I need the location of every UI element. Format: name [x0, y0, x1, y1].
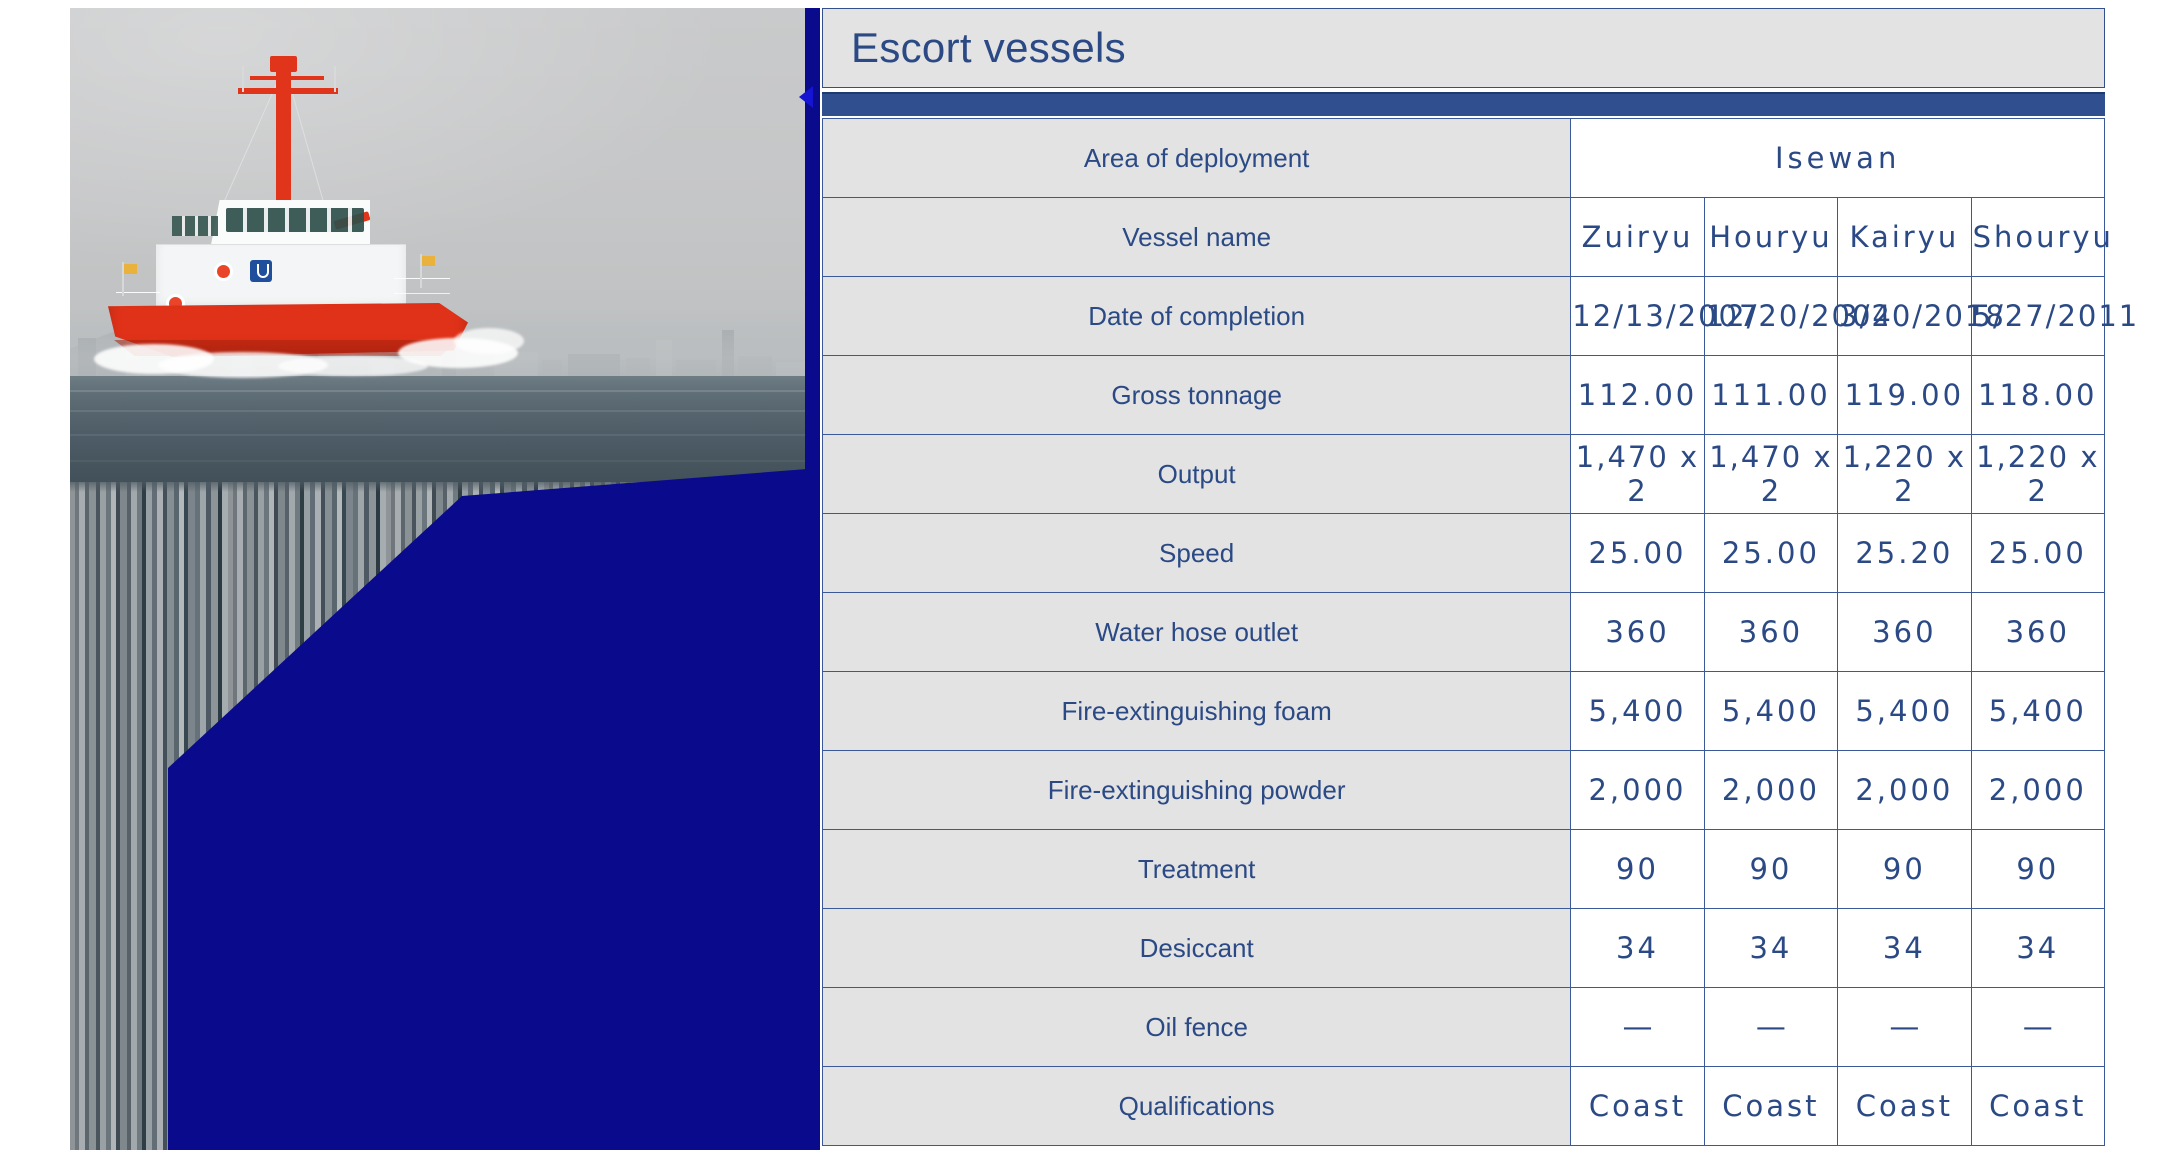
cell-foam-1: 5,400	[1571, 672, 1704, 751]
cell-tonnage-2: 111.00	[1704, 356, 1837, 435]
cell-powder-1: 2,000	[1571, 751, 1704, 830]
table-row: Qualifications Coast Coast Coast Coast	[823, 1067, 2105, 1146]
table-row: Vessel name Zuiryu Houryu Kairyu Shouryu	[823, 198, 2105, 277]
cell-qualifications-3: Coast	[1838, 1067, 1971, 1146]
company-logo	[250, 260, 272, 282]
page-title: Escort vessels	[851, 24, 1126, 72]
row-label-area-of-deployment: Area of deployment	[823, 119, 1571, 198]
row-label-output: Output	[823, 435, 1571, 514]
blue-vertical-strip	[805, 8, 820, 1150]
table-row: Fire-extinguishing foam 5,400 5,400 5,40…	[823, 672, 2105, 751]
cell-date-1: 12/13/2007	[1571, 277, 1704, 356]
table-row: Treatment 90 90 90 90	[823, 830, 2105, 909]
table-row: Date of completion 12/13/2007 12/20/2004…	[823, 277, 2105, 356]
cell-desiccant-4: 34	[1971, 909, 2104, 988]
cell-treatment-2: 90	[1704, 830, 1837, 909]
spec-table-panel: Escort vessels Area of deployment Isewan…	[822, 8, 2105, 1150]
cell-qualifications-4: Coast	[1971, 1067, 2104, 1146]
escort-vessel	[98, 48, 518, 378]
cell-desiccant-2: 34	[1704, 909, 1837, 988]
row-label-gross-tonnage: Gross tonnage	[823, 356, 1571, 435]
cell-date-3: 3/20/2018	[1838, 277, 1971, 356]
cell-foam-4: 5,400	[1971, 672, 2104, 751]
row-label-oil-fence: Oil fence	[823, 988, 1571, 1067]
cell-vessel-name-2: Houryu	[1704, 198, 1837, 277]
title-bar: Escort vessels	[822, 8, 2105, 88]
table-row: Oil fence — — — —	[823, 988, 2105, 1067]
deckhouse	[156, 244, 406, 311]
cell-vessel-name-3: Kairyu	[1838, 198, 1971, 277]
bridge-windows	[226, 208, 364, 232]
cell-treatment-1: 90	[1571, 830, 1704, 909]
cell-output-1: 1,470 x 2	[1571, 435, 1704, 514]
row-label-date-of-completion: Date of completion	[823, 277, 1571, 356]
row-label-qualifications: Qualifications	[823, 1067, 1571, 1146]
cell-output-4: 1,220 x 2	[1971, 435, 2104, 514]
row-label-water-hose-outlet: Water hose outlet	[823, 593, 1571, 672]
cell-output-2: 1,470 x 2	[1704, 435, 1837, 514]
cell-oil-fence-1: —	[1571, 988, 1704, 1067]
cell-date-4: 5/27/2011	[1971, 277, 2104, 356]
cell-foam-3: 5,400	[1838, 672, 1971, 751]
table-row: Desiccant 34 34 34 34	[823, 909, 2105, 988]
spec-table-body: Area of deployment Isewan Vessel name Zu…	[823, 119, 2105, 1146]
cell-powder-2: 2,000	[1704, 751, 1837, 830]
cell-vessel-name-1: Zuiryu	[1571, 198, 1704, 277]
cell-hose-3: 360	[1838, 593, 1971, 672]
cell-oil-fence-4: —	[1971, 988, 2104, 1067]
cell-treatment-3: 90	[1838, 830, 1971, 909]
table-row: Output 1,470 x 2 1,470 x 2 1,220 x 2 1,2…	[823, 435, 2105, 514]
table-row: Fire-extinguishing powder 2,000 2,000 2,…	[823, 751, 2105, 830]
slide-root: Escort vessels Area of deployment Isewan…	[0, 0, 2175, 1150]
cell-desiccant-3: 34	[1838, 909, 1971, 988]
cell-hose-4: 360	[1971, 593, 2104, 672]
row-label-desiccant: Desiccant	[823, 909, 1571, 988]
cell-speed-3: 25.20	[1838, 514, 1971, 593]
cell-oil-fence-2: —	[1704, 988, 1837, 1067]
cell-hose-1: 360	[1571, 593, 1704, 672]
cell-oil-fence-3: —	[1838, 988, 1971, 1067]
cell-desiccant-1: 34	[1571, 909, 1704, 988]
cell-tonnage-1: 112.00	[1571, 356, 1704, 435]
cell-powder-4: 2,000	[1971, 751, 2104, 830]
escort-vessel-spec-table: Area of deployment Isewan Vessel name Zu…	[822, 118, 2105, 1146]
row-label-fire-extinguishing-foam: Fire-extinguishing foam	[823, 672, 1571, 751]
title-underline-rule	[822, 92, 2105, 116]
cell-vessel-name-4: Shouryu	[1971, 198, 2104, 277]
cell-area-value: Isewan	[1571, 119, 2105, 198]
cell-qualifications-1: Coast	[1571, 1067, 1704, 1146]
cell-foam-2: 5,400	[1704, 672, 1837, 751]
cell-date-2: 12/20/2004	[1704, 277, 1837, 356]
table-row-area: Area of deployment Isewan	[823, 119, 2105, 198]
cell-speed-1: 25.00	[1571, 514, 1704, 593]
row-label-fire-extinguishing-powder: Fire-extinguishing powder	[823, 751, 1571, 830]
cell-speed-4: 25.00	[1971, 514, 2104, 593]
mast	[276, 60, 291, 210]
sea-surface	[70, 376, 820, 488]
cell-speed-2: 25.00	[1704, 514, 1837, 593]
cell-powder-3: 2,000	[1838, 751, 1971, 830]
vessel-photo-panel	[70, 8, 820, 1150]
row-label-speed: Speed	[823, 514, 1571, 593]
cell-treatment-4: 90	[1971, 830, 2104, 909]
table-row: Water hose outlet 360 360 360 360	[823, 593, 2105, 672]
table-row: Gross tonnage 112.00 111.00 119.00 118.0…	[823, 356, 2105, 435]
cell-tonnage-3: 119.00	[1838, 356, 1971, 435]
cell-qualifications-2: Coast	[1704, 1067, 1837, 1146]
row-label-vessel-name: Vessel name	[823, 198, 1571, 277]
cell-hose-2: 360	[1704, 593, 1837, 672]
vessel-photograph	[70, 8, 820, 488]
row-label-treatment: Treatment	[823, 830, 1571, 909]
table-row: Speed 25.00 25.00 25.20 25.00	[823, 514, 2105, 593]
cell-tonnage-4: 118.00	[1971, 356, 2104, 435]
cell-output-3: 1,220 x 2	[1838, 435, 1971, 514]
